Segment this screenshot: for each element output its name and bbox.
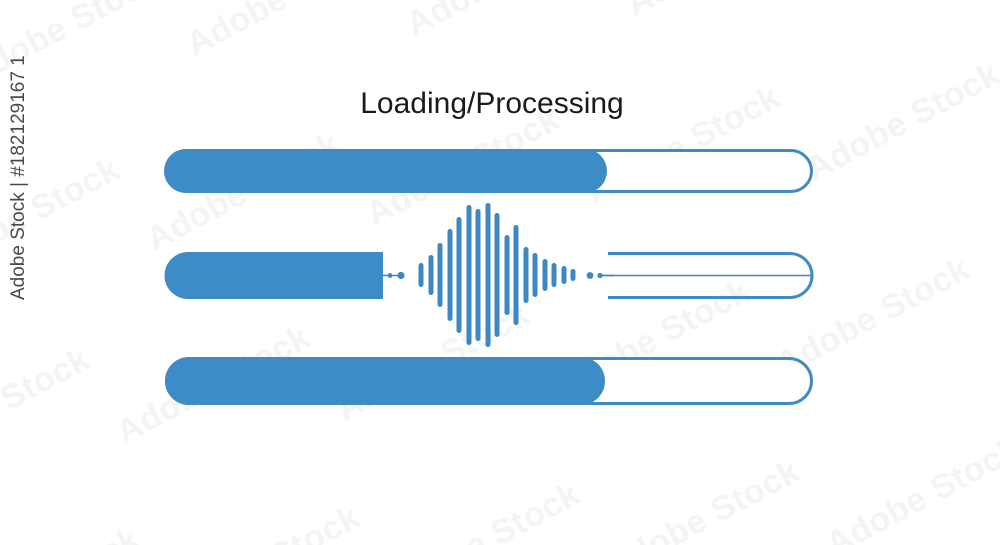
waveform-bar: [419, 263, 424, 287]
waveform-bar: [467, 205, 472, 345]
waveform-bar: [533, 253, 538, 297]
waveform-bar-group: [419, 203, 576, 347]
loading-bars-graphic: [0, 0, 1000, 545]
bottom-progress-bar[interactable]: [165, 357, 812, 405]
waveform-bar: [514, 225, 519, 325]
waveform-dot: [397, 272, 404, 279]
waveform-bar: [486, 203, 491, 347]
bottom-progress-fill: [165, 357, 605, 405]
middle-progress-bar[interactable]: [164, 203, 812, 347]
waveform-bar: [543, 259, 548, 291]
middle-progress-fill: [164, 252, 383, 299]
top-progress-fill: [164, 149, 607, 193]
waveform-bar: [457, 217, 462, 333]
waveform-bar: [562, 266, 567, 284]
waveform-bar: [552, 263, 557, 287]
waveform-bar: [448, 229, 453, 321]
waveform-bar: [505, 235, 510, 315]
waveform-bar: [524, 247, 529, 303]
waveform-bar: [571, 269, 576, 281]
waveform-dot: [388, 273, 393, 278]
top-progress-bar[interactable]: [164, 149, 812, 193]
illustration-canvas: Adobe Stock Adobe Stock Adobe Stock Adob…: [0, 0, 1000, 545]
waveform-bar: [495, 213, 500, 337]
waveform-bar: [429, 255, 434, 295]
waveform-bar: [438, 243, 443, 307]
waveform-bar: [476, 209, 481, 341]
waveform-dot: [587, 272, 594, 279]
